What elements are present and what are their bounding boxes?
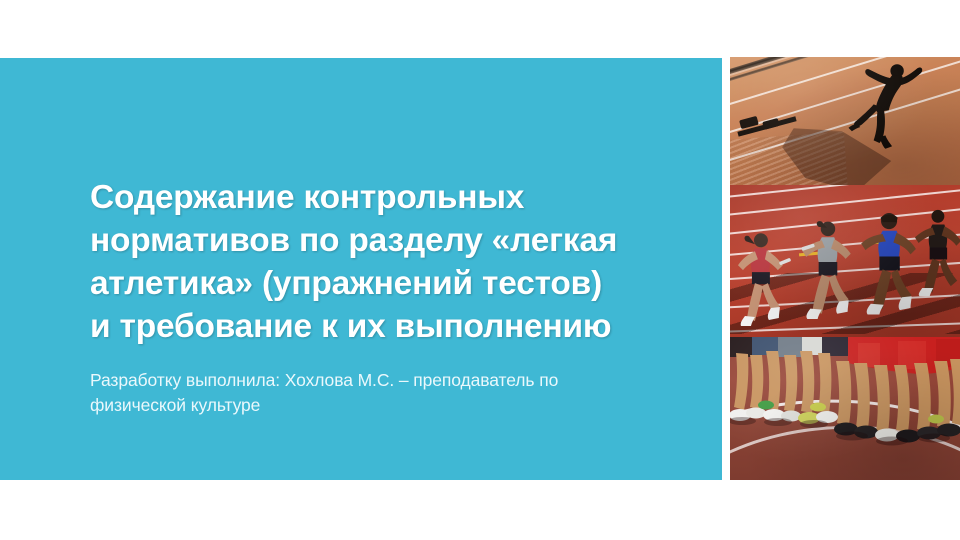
page-title: Содержание контрольных нормативов по раз… (90, 176, 670, 348)
runner-figure (914, 188, 960, 313)
image-strip (730, 57, 960, 480)
runners-legs-group (730, 337, 960, 480)
runner-figure (735, 228, 795, 328)
runner-figure (799, 212, 861, 324)
slide-subtitle: Разработку выполнила: Хохлова М.С. – пре… (90, 368, 650, 418)
title-panel: Содержание контрольных нормативов по раз… (0, 58, 722, 480)
photo-relay-runners (730, 185, 960, 337)
photo-sprinter-start (730, 57, 960, 185)
title-text-block: Содержание контрольных нормативов по раз… (90, 176, 670, 418)
title-slide: Содержание контрольных нормативов по раз… (0, 0, 960, 540)
starting-blocks-icon (737, 116, 797, 136)
photo-runner-pack-legs (730, 337, 960, 480)
